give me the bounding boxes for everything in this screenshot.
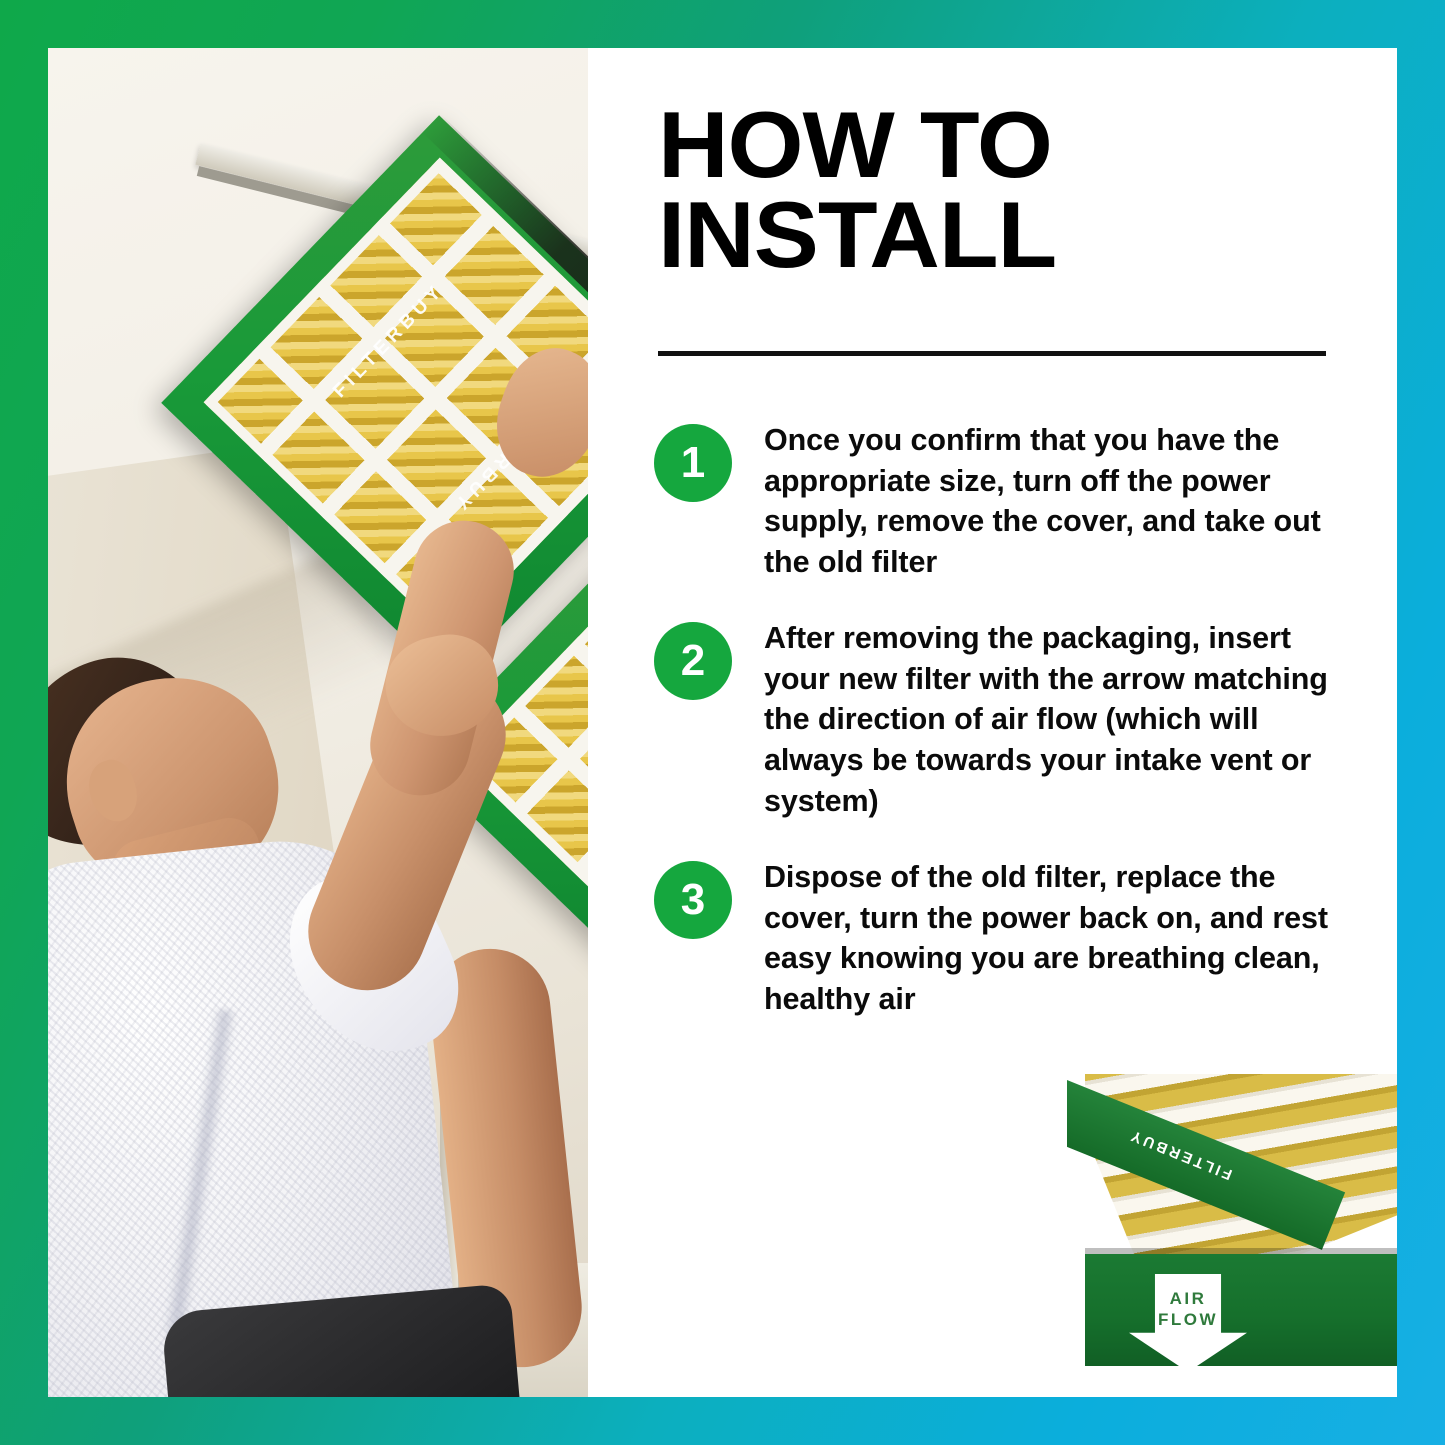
installation-photo: FILTERBUY FILTERBUY: [48, 48, 588, 1397]
step-item-1: 1 Once you confirm that you have the app…: [654, 420, 1344, 582]
step-text-1: Once you confirm that you have the appro…: [764, 420, 1344, 582]
step-number-badge-2: 2: [654, 622, 732, 700]
air-flow-label-line-1: AIR: [1170, 1288, 1207, 1309]
air-flow-label-line-2: FLOW: [1158, 1309, 1218, 1330]
page-title-line-2: INSTALL: [658, 190, 1386, 280]
filter-front-face: [1085, 1254, 1397, 1366]
product-filter-corner-image: FILTERBUY AIR FLOW: [1067, 1062, 1397, 1397]
step-item-2: 2 After removing the packaging, insert y…: [654, 618, 1344, 821]
title-divider: [658, 351, 1326, 356]
page-title: HOW TO INSTALL: [658, 100, 1386, 280]
step-item-3: 3 Dispose of the old filter, replace the…: [654, 857, 1344, 1019]
step-number-badge-1: 1: [654, 424, 732, 502]
step-number-badge-3: 3: [654, 861, 732, 939]
white-content-card: FILTERBUY FILTERBUY HOW TO INSTA: [48, 48, 1397, 1397]
page-title-line-1: HOW TO: [658, 100, 1386, 190]
steps-list: 1 Once you confirm that you have the app…: [654, 420, 1344, 1055]
step-text-2: After removing the packaging, insert you…: [764, 618, 1344, 821]
poster-canvas: FILTERBUY FILTERBUY HOW TO INSTA: [0, 0, 1445, 1445]
step-text-3: Dispose of the old filter, replace the c…: [764, 857, 1344, 1019]
instructions-panel: HOW TO INSTALL 1 Once you confirm that y…: [588, 48, 1397, 1397]
